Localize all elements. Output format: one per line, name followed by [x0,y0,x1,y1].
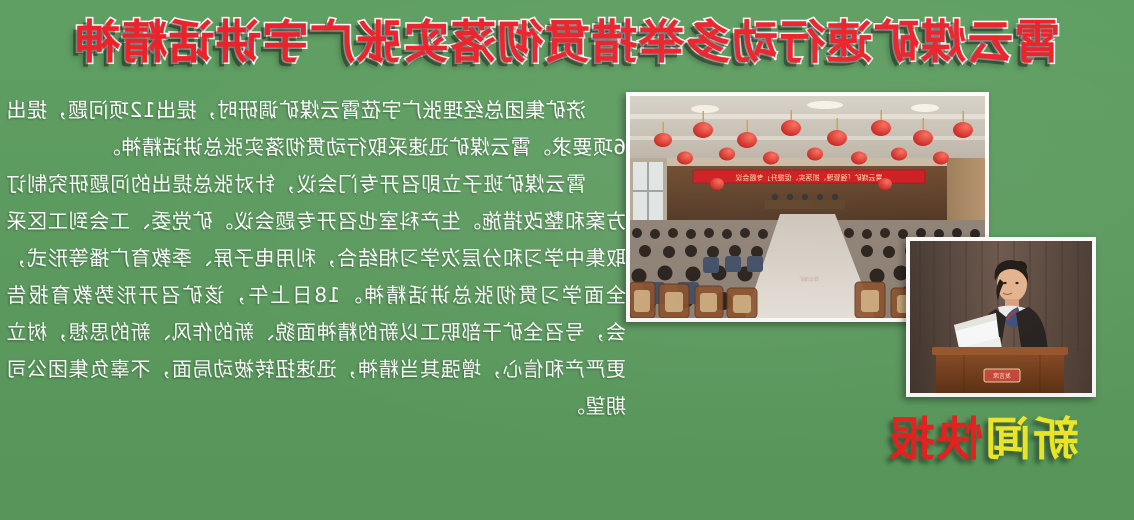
svg-text:发言席: 发言席 [993,372,1011,380]
page-title: 霄云煤矿速行动多举措贯彻落实张广宇讲话精神 [0,8,1134,76]
bulletin-wordmark: 新闻快报 [887,408,1079,470]
speaker-podium-photo: 发言席 [906,237,1096,397]
svg-text:霄云煤矿: 霄云煤矿 [799,276,819,283]
news-bulletin-page: 霄云煤矿速行动多举措贯彻落实张广宇讲话精神 [0,0,1134,520]
speaker-podium-illustration: 发言席 [910,241,1092,393]
svg-text:霄云煤矿「强管理、抓落实、促提升」专题会议: 霄云煤矿「强管理、抓落实、促提升」专题会议 [736,173,883,182]
wordmark-part-one: 新闻 [983,412,1079,466]
article-body: 济矿集团总经理张广宇莅霄云煤矿调研时，提出12项问题，提出6项要求。霄云煤矿迅速… [6,92,626,425]
article-paragraph-2: 霄云煤矿班子立即召开专门会议，针对张总提出的问题研究制订方案和整改措施。生产科室… [6,166,626,425]
article-paragraph-1: 济矿集团总经理张广宇莅霄云煤矿调研时，提出12项问题，提出6项要求。霄云煤矿迅速… [6,92,626,166]
wordmark-part-two: 快报 [887,412,983,466]
